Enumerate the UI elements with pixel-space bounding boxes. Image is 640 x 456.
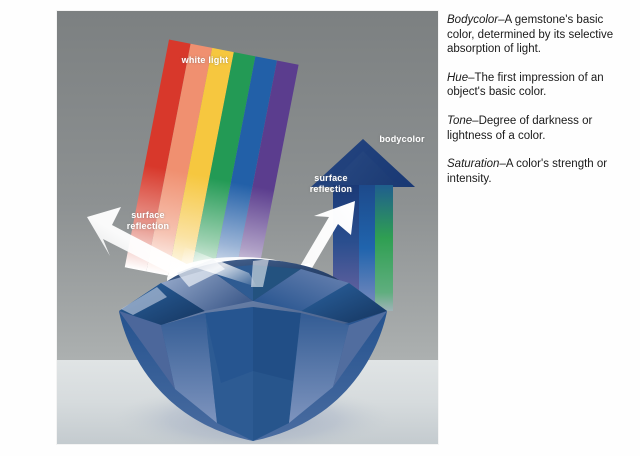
definition-term: Tone bbox=[447, 115, 472, 127]
definition-term: Hue bbox=[447, 72, 468, 84]
definition-term: Saturation bbox=[447, 158, 499, 170]
illustration-canvas bbox=[57, 11, 438, 444]
definition-saturation: Saturation–A color's strength or intensi… bbox=[447, 157, 633, 186]
definition-tone: Tone–Degree of darkness or lightness of … bbox=[447, 114, 633, 143]
definition-hue: Hue–The first impression of an object's … bbox=[447, 71, 633, 100]
definitions-column: Bodycolor–A gemstone's basic color, dete… bbox=[447, 13, 633, 186]
gemstone-illustration: white light surface reflection surface r… bbox=[57, 11, 438, 444]
page-root: white light surface reflection surface r… bbox=[0, 0, 640, 456]
definition-term: Bodycolor bbox=[447, 14, 498, 26]
definition-bodycolor: Bodycolor–A gemstone's basic color, dete… bbox=[447, 13, 633, 57]
